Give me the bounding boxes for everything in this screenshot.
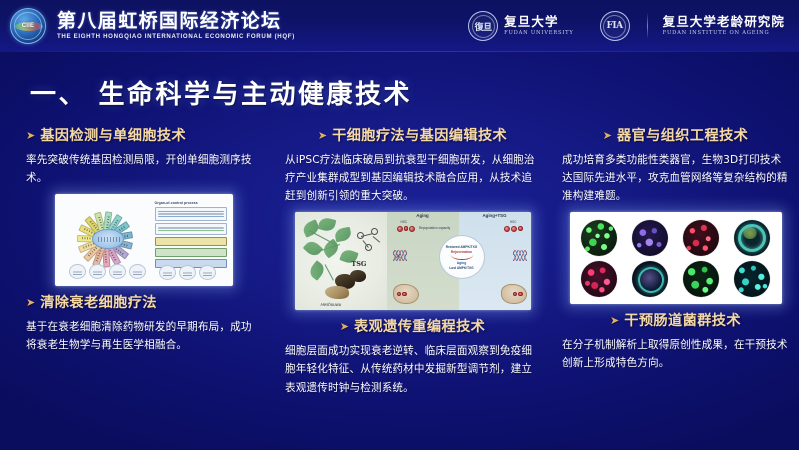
aging-direction-label: Aging	[457, 261, 467, 265]
diagram-box	[155, 223, 227, 234]
hsc-cell	[504, 226, 510, 232]
hsc-cell	[404, 226, 409, 231]
slide-root: CIIE 第八届虹桥国际经济论坛 THE EIGHTH HONGQIAO INT…	[0, 0, 799, 450]
tsg-molecule-label: TSG	[351, 260, 366, 268]
micrograph-cell	[683, 261, 719, 297]
micrograph-dish-green-dots	[683, 261, 719, 297]
heading-gene-detection-label: 基因检测与单细胞技术	[40, 128, 186, 146]
diagram-line	[158, 230, 224, 232]
legend-oval	[109, 264, 126, 279]
wheel-legend-ovals	[69, 261, 149, 281]
figure-wrap-organoid	[562, 212, 789, 304]
hsc-cell	[518, 226, 523, 231]
micrograph-cell	[632, 261, 668, 297]
body-epigenetic-reprogramming: 细胞层面成功实现衰老逆转、临床层面观察到免疫细胞年轻化特征、从传统药材中发掘新型…	[285, 342, 540, 397]
rejuvenation-hub: Restored AMPK/TXG Rejuvenation Aging Los…	[439, 235, 485, 279]
legend-oval	[199, 265, 216, 280]
arrow-bullet-icon: ➤	[26, 128, 35, 145]
legend-oval	[159, 265, 176, 280]
leaf-shape	[317, 217, 336, 234]
diagram-filled-box	[155, 248, 227, 257]
body-organ-tissue-engineering: 成功培育多类功能性类器官，生物3D打印技术达国际先进水平，攻克血管网络等复杂结构…	[562, 151, 789, 206]
diagram-line	[158, 213, 224, 215]
micrograph-cell	[734, 220, 770, 256]
arrow-bullet-icon: ➤	[318, 128, 327, 145]
micrograph-cell	[683, 220, 719, 256]
hsc-cell	[513, 292, 518, 297]
heading-gene-detection: ➤ 基因检测与单细胞技术	[26, 128, 261, 146]
diagram-line	[158, 211, 224, 213]
content-grid: ➤ 基因检测与单细胞技术 率先突破传统基因检测局限，开创单细胞测序技术。	[0, 128, 799, 450]
fudan-seal-icon: 復旦	[468, 11, 498, 41]
heading-organ-tissue-engineering: ➤ 器官与组织工程技术	[562, 128, 789, 146]
rejuvenation-label: Rejuvenation	[451, 250, 472, 254]
hsc-label: HSC	[510, 220, 517, 224]
leaf-shape	[306, 261, 326, 282]
diagram-filled-box	[155, 237, 227, 246]
micrograph-cell	[581, 220, 617, 256]
fudan-seal-glyph: 復旦	[475, 20, 492, 33]
heading-gut-microbiome-label: 干预肠道菌群技术	[624, 313, 741, 331]
column-genomics: ➤ 基因检测与单细胞技术 率先突破传统基因检测局限，开创单细胞测序技术。	[0, 128, 275, 450]
molecule-ring	[371, 228, 378, 235]
micrograph-dish-purple	[632, 220, 668, 256]
hsc-cell	[518, 292, 523, 297]
hsc-cell	[397, 226, 403, 232]
heading-epigenetic-reprogramming: ➤ 表观遗传重编程技术	[285, 319, 540, 337]
body-gene-detection: 率先突破传统基因检测局限，开创单细胞测序技术。	[26, 151, 261, 187]
micrograph-dish-cyan-blob	[632, 261, 668, 297]
arrow-bullet-icon: ➤	[610, 313, 619, 330]
legend-oval	[129, 264, 146, 279]
fia-seal-glyph: FIA	[607, 21, 623, 31]
wheel-legend-ovals-right	[159, 262, 225, 282]
diagram-box	[155, 207, 227, 221]
legend-oval	[179, 265, 196, 280]
leaf-shape	[333, 227, 351, 243]
dna-strand-icon	[393, 250, 407, 261]
hsc-cell	[397, 292, 402, 297]
lost-ampk-label: Lost AMPK/TXG	[449, 266, 473, 270]
slide-title: 一、 生命科学与主动健康技术	[30, 74, 412, 111]
forum-title-cn: 第八届虹桥国际经济论坛	[57, 12, 295, 31]
arrow-bullet-icon: ➤	[603, 128, 612, 145]
diagram-right-title: Organ-of-control process	[155, 201, 227, 205]
dna-strand-icon	[513, 250, 527, 261]
micrograph-dish-teal-ring	[734, 220, 770, 256]
hsc-label: HSC	[401, 220, 408, 224]
genomics-wheel-diagram: Organ-of-control process	[55, 194, 233, 286]
hsc-cell-cluster	[504, 226, 523, 232]
fudan-institute-ageing-logo-group: FIA 复旦大学老龄研究院 FUDAN INSTITUTE ON AGEING	[600, 11, 785, 41]
micrograph-dish-cyan-field	[734, 261, 770, 297]
arrow-bullet-icon: ➤	[26, 295, 35, 312]
figure-wrap-tsg: TSG Heshouwu Aging HSC ✕	[285, 212, 540, 310]
leaf-shape	[302, 239, 323, 259]
fudan-university-logo-group: 復旦 复旦大学 FUDAN UNIVERSITY	[468, 11, 573, 41]
heading-stemcell-geneedit-label: 干细胞疗法与基因编辑技术	[332, 128, 507, 146]
arrow-bullet-icon: ➤	[340, 319, 349, 336]
hsc-cell	[402, 292, 407, 297]
fia-seal-icon: FIA	[600, 11, 630, 41]
repopulation-capacity-label: Repopulation capacity	[411, 226, 459, 230]
heading-epigenetic-reprogramming-label: 表观遗传重编程技术	[354, 319, 485, 337]
diagram-line	[158, 227, 224, 229]
micrograph-dish-red	[683, 220, 719, 256]
legend-oval	[89, 264, 106, 279]
micrograph-row-bottom	[574, 258, 778, 299]
micrograph-row-top	[574, 217, 778, 258]
heading-gut-microbiome: ➤ 干预肠道菌群技术	[562, 313, 789, 331]
column-stemcell: ➤ 干细胞疗法与基因编辑技术 从iPSC疗法临床破局到抗衰型干细胞研发，从细胞治…	[275, 128, 550, 450]
panel-caption-aging: Aging	[387, 213, 459, 218]
fia-name-cn: 复旦大学老龄研究院	[663, 15, 785, 28]
body-senolytic-therapy: 基于在衰老细胞清除药物研发的早期布局，成功将衰老生物学与再生医学相融合。	[26, 318, 261, 354]
heading-senolytic-therapy-label: 清除衰老细胞疗法	[40, 295, 157, 313]
body-gut-microbiome: 在分子机制解析上取得原创性成果，在干预技术创新上形成特色方向。	[562, 336, 789, 372]
fia-name-en: FUDAN INSTITUTE ON AGEING	[663, 31, 785, 36]
tsg-heshouwu-rejuvenation-figure: TSG Heshouwu Aging HSC ✕	[295, 212, 531, 310]
forum-title-group: 第八届虹桥国际经济论坛 THE EIGHTH HONGQIAO INTERNAT…	[57, 12, 295, 40]
heshouwu-label: Heshouwu	[321, 302, 342, 307]
vine-stem	[324, 265, 333, 281]
hsc-cell	[511, 226, 517, 232]
restored-ampk-label: Restored AMPK/TXG	[446, 245, 477, 249]
heading-stemcell-geneedit: ➤ 干细胞疗法与基因编辑技术	[285, 128, 540, 146]
micrograph-dish-green	[581, 220, 617, 256]
hsc-cell-cluster	[397, 292, 407, 297]
micrograph-dish-magenta	[581, 261, 617, 297]
forum-title-en: THE EIGHTH HONGQIAO INTERNATIONAL ECONOM…	[57, 34, 295, 40]
legend-oval	[69, 264, 86, 279]
ciie-logo-text: CIIE	[22, 23, 34, 29]
column-organ-tissue: ➤ 器官与组织工程技术 成功培育多类功能性类器官，生物3D打印技术达国际先进水平…	[550, 128, 799, 450]
header-bar: CIIE 第八届虹桥国际经济论坛 THE EIGHTH HONGQIAO INT…	[0, 0, 799, 52]
diagram-line	[158, 216, 224, 218]
micrograph-cell	[632, 220, 668, 256]
body-stemcell-geneedit: 从iPSC疗法临床破局到抗衰型干细胞研发，从细胞治疗产业集群成型到基因编辑技术融…	[285, 151, 540, 206]
heading-senolytic-therapy: ➤ 清除衰老细胞疗法	[26, 295, 261, 313]
panel-caption-aging-tsg: Aging+TSG	[459, 213, 531, 218]
root-tuber-light	[325, 286, 349, 299]
fudan-name-en: FUDAN UNIVERSITY	[504, 31, 573, 36]
ciie-logo-icon: CIIE	[10, 8, 46, 44]
fudan-name-cn: 复旦大学	[504, 15, 573, 28]
figure-wrap-genomics: Organ-of-control process	[26, 194, 261, 286]
fia-name-group: 复旦大学老龄研究院 FUDAN INSTITUTE ON AGEING	[663, 15, 785, 36]
molecule-bond	[372, 236, 379, 242]
hsc-cell-cluster	[513, 292, 523, 297]
micrograph-cell	[734, 261, 770, 297]
organoid-fluorescence-micrograph-grid	[570, 212, 782, 304]
wheel-hub	[92, 229, 124, 249]
logo-divider	[647, 13, 648, 39]
heading-organ-tissue-engineering-label: 器官与组织工程技术	[617, 128, 748, 146]
rejuvenation-arrow-icon	[451, 255, 473, 260]
heshouwu-plant-panel: TSG Heshouwu	[295, 212, 387, 310]
micrograph-cell	[581, 261, 617, 297]
fudan-name-group: 复旦大学 FUDAN UNIVERSITY	[504, 15, 573, 36]
